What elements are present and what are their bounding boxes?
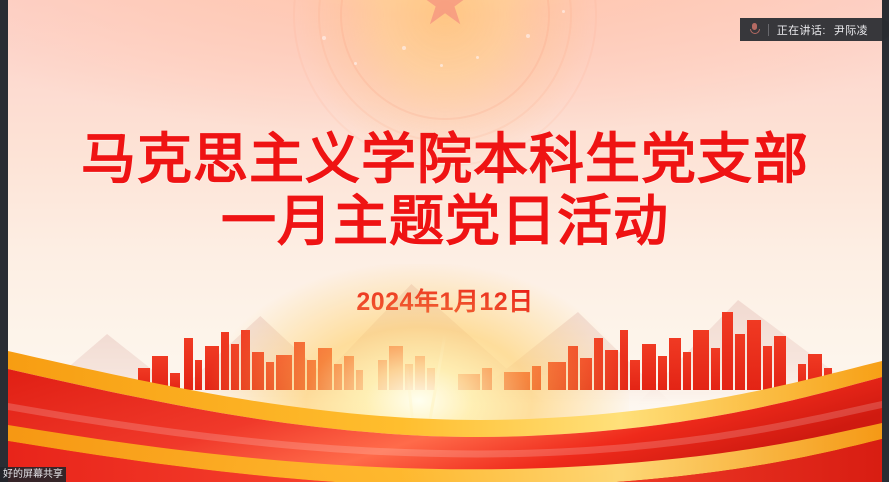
- red-star-icon: ★: [416, 0, 473, 34]
- microphone-icon: [749, 23, 760, 36]
- speaker-name: 尹际凌: [834, 22, 868, 38]
- screen-share-toast: 好的屏幕共享: [0, 467, 66, 482]
- presentation-slide: ★: [8, 0, 882, 482]
- emblem-speck: [354, 62, 357, 65]
- speaker-indicator-badge[interactable]: 正在讲话: 尹际凌: [740, 18, 882, 41]
- speaking-status-label: 正在讲话:: [777, 22, 826, 38]
- badge-divider: [768, 24, 769, 36]
- slide-title-line-1: 马克思主义学院本科生党支部: [8, 128, 882, 190]
- letterbox-right: [882, 0, 889, 482]
- emblem-speck: [476, 56, 479, 59]
- screen-share-viewport: ★: [0, 0, 889, 482]
- slide-title-line-2: 一月主题党日活动: [8, 190, 882, 252]
- ribbon-waves: [8, 307, 882, 482]
- emblem-speck: [526, 34, 530, 38]
- emblem-speck: [402, 46, 406, 50]
- emblem-speck: [440, 64, 443, 67]
- emblem-speck: [562, 10, 565, 13]
- letterbox-left: [0, 0, 8, 482]
- emblem-speck: [322, 36, 326, 40]
